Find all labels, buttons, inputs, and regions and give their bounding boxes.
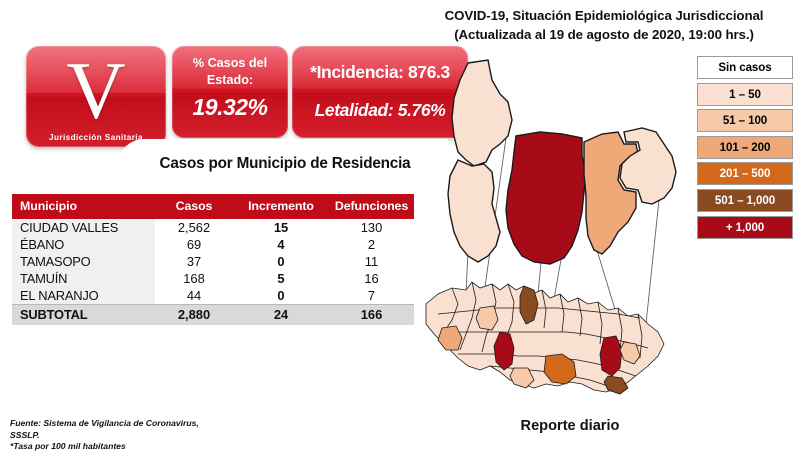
pct-state-label-line2: Estado:	[207, 73, 253, 87]
municipality-tamuin	[584, 132, 638, 254]
cell-casos: 37	[155, 253, 233, 270]
table-subtotal-row: SUBTOTAL 2,880 24 166	[12, 305, 414, 326]
legend-label: 1 – 50	[729, 88, 761, 101]
table-row: TAMUÍN 168 5 16	[12, 270, 414, 287]
cell-casos: 168	[155, 270, 233, 287]
legend-label: 51 – 100	[723, 114, 767, 127]
pct-state-label: % Casos del Estado:	[172, 55, 288, 89]
cell-casos: 2,562	[155, 219, 233, 236]
legend-item-3: 101 – 200	[697, 136, 793, 159]
cell-incremento: 0	[233, 253, 329, 270]
cell-incremento: 5	[233, 270, 329, 287]
jurisdiction-badge: V Jurisdicción Sanitaria	[26, 46, 166, 147]
table-row: ÉBANO 69 4 2	[12, 236, 414, 253]
jurisdiction-zoom	[448, 60, 676, 264]
cell-casos: 44	[155, 287, 233, 305]
map-legend: Sin casos 1 – 50 51 – 100 101 – 200 201 …	[697, 56, 793, 242]
map-title-line1: COVID-19, Situación Epidemiológica Juris…	[410, 6, 798, 25]
cell-municipio: EL NARANJO	[12, 287, 155, 305]
legend-label: + 1,000	[726, 221, 764, 234]
cell-municipio: TAMASOPO	[12, 253, 155, 270]
legend-item-2: 51 – 100	[697, 109, 793, 132]
legend-label: 201 – 500	[720, 167, 771, 180]
legend-item-0: Sin casos	[697, 56, 793, 79]
table-row: CIUDAD VALLES 2,562 15 130	[12, 219, 414, 236]
source-line2: SSSLP.	[10, 430, 340, 442]
choropleth-map	[396, 32, 696, 412]
column-header-municipio: Municipio	[12, 194, 155, 219]
pct-state-card: % Casos del Estado: 19.32%	[172, 46, 288, 138]
pct-state-value: 19.32%	[172, 94, 288, 121]
report-page: COVID-19, Situación Epidemiológica Juris…	[0, 0, 800, 465]
pct-state-label-line1: % Casos del	[193, 56, 267, 70]
table-header-row: Municipio Casos Incremento Defunciones	[12, 194, 414, 219]
table-row: TAMASOPO 37 0 11	[12, 253, 414, 270]
municipality-tamasopo	[448, 160, 500, 262]
cell-subtotal-incremento: 24	[233, 305, 329, 326]
table-row: EL NARANJO 44 0 7	[12, 287, 414, 305]
legend-label: 101 – 200	[720, 141, 771, 154]
jurisdiction-letter: V	[26, 50, 166, 132]
municipality-ciudad-valles	[506, 132, 586, 264]
cell-incremento: 0	[233, 287, 329, 305]
source-line3: *Tasa por 100 mil habitantes	[10, 441, 340, 453]
cell-incremento: 4	[233, 236, 329, 253]
municipality-el-naranjo	[452, 60, 512, 166]
legend-label: Sin casos	[718, 61, 771, 74]
cell-incremento: 15	[233, 219, 329, 236]
state-inset	[426, 282, 664, 394]
cell-casos: 69	[155, 236, 233, 253]
legend-item-6: + 1,000	[697, 216, 793, 239]
cell-subtotal-casos: 2,880	[155, 305, 233, 326]
map-caption: Reporte diario	[470, 418, 670, 434]
cell-municipio: CIUDAD VALLES	[12, 219, 155, 236]
cases-by-municipality-table: Municipio Casos Incremento Defunciones C…	[12, 194, 414, 325]
legend-label: 501 – 1,000	[715, 194, 775, 207]
cell-municipio: TAMUÍN	[12, 270, 155, 287]
column-header-casos: Casos	[155, 194, 233, 219]
legend-item-5: 501 – 1,000	[697, 189, 793, 212]
source-line1: Fuente: Sistema de Vigilancia de Coronav…	[10, 418, 340, 430]
cell-subtotal-label: SUBTOTAL	[12, 305, 155, 326]
cell-municipio: ÉBANO	[12, 236, 155, 253]
legend-item-1: 1 – 50	[697, 83, 793, 106]
source-footer: Fuente: Sistema de Vigilancia de Coronav…	[10, 418, 340, 453]
column-header-incremento: Incremento	[233, 194, 329, 219]
legend-item-4: 201 – 500	[697, 162, 793, 185]
